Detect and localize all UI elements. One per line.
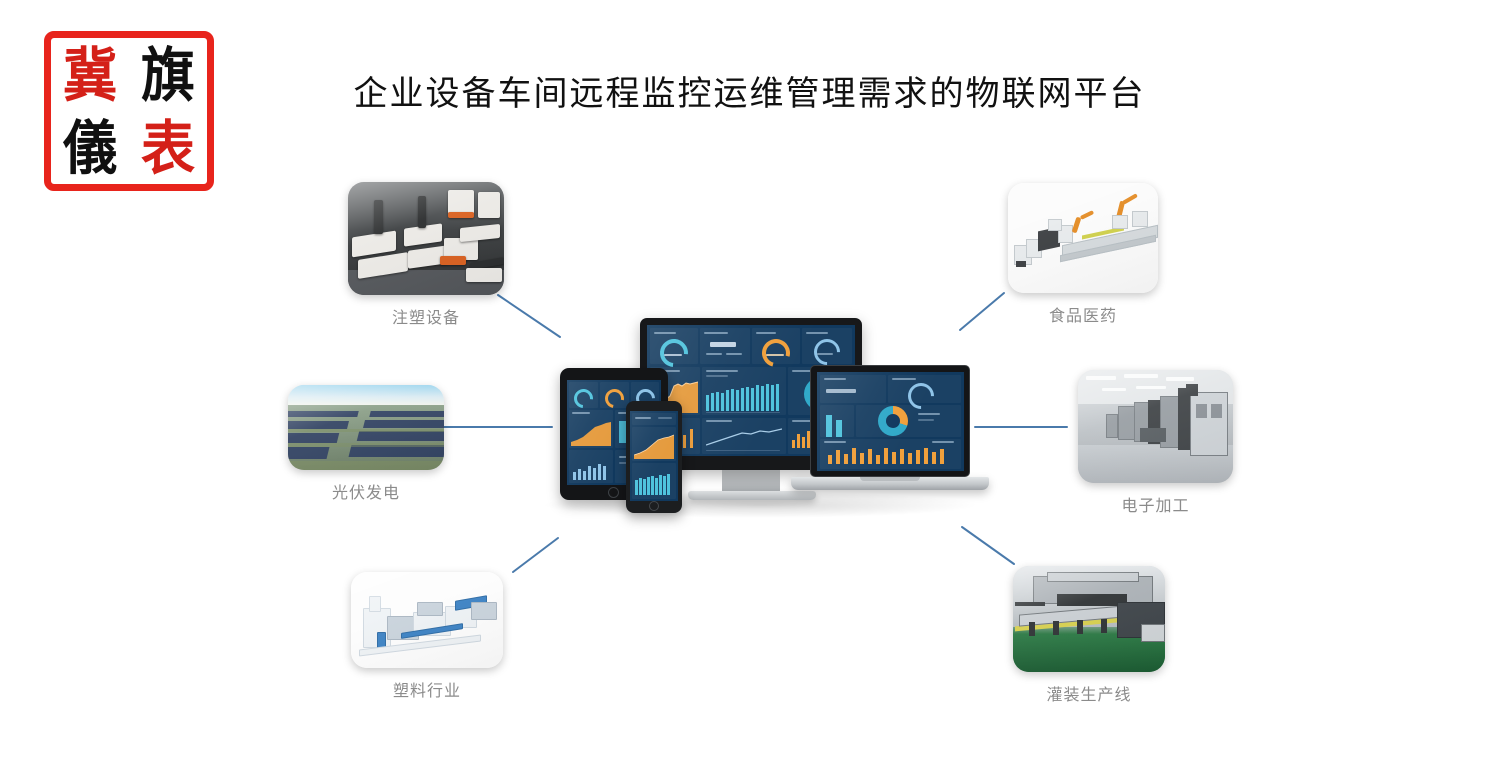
node-electronics-thumb bbox=[1078, 370, 1233, 483]
node-electronics-label: 电子加工 bbox=[1078, 492, 1233, 516]
phone-bar-chart bbox=[632, 463, 676, 499]
laptop-screen bbox=[817, 372, 964, 471]
node-injection[interactable]: 注塑设备 bbox=[348, 182, 504, 328]
node-injection-label: 注塑设备 bbox=[348, 304, 504, 328]
node-foodpharma-label: 食品医药 bbox=[1008, 302, 1158, 326]
phone-device bbox=[626, 401, 682, 513]
node-foodpharma[interactable]: 食品医药 bbox=[1008, 183, 1158, 326]
laptop-bar-chart bbox=[820, 439, 961, 469]
monitor-stand-base bbox=[688, 491, 816, 500]
laptop-gauge bbox=[888, 375, 961, 403]
phone-screen bbox=[630, 411, 678, 501]
photo-food-pharma-line bbox=[1008, 183, 1158, 293]
photo-electronics-cleanroom bbox=[1078, 370, 1233, 483]
tablet-gauge-1 bbox=[569, 382, 598, 408]
connector-injection bbox=[498, 295, 560, 337]
monitor-line-chart bbox=[702, 418, 786, 454]
monitor-gauge-3 bbox=[802, 328, 852, 364]
phone-header bbox=[632, 413, 676, 425]
laptop-device bbox=[810, 365, 970, 477]
node-plastics[interactable]: 塑料行业 bbox=[351, 572, 503, 701]
monitor-gauge-1 bbox=[650, 328, 698, 364]
monitor-bar-chart bbox=[702, 367, 786, 415]
photo-solar-farm bbox=[288, 385, 444, 470]
laptop-kpi-1 bbox=[820, 375, 886, 403]
laptop-trackpad-notch bbox=[860, 477, 920, 481]
node-injection-thumb bbox=[348, 182, 504, 295]
connector-filling bbox=[962, 527, 1014, 564]
connector-plastics bbox=[513, 538, 558, 572]
tablet-gauge-2 bbox=[600, 382, 629, 408]
monitor-stand-neck bbox=[722, 470, 780, 492]
node-solar[interactable]: 光伏发电 bbox=[288, 385, 444, 503]
node-electronics[interactable]: 电子加工 bbox=[1078, 370, 1233, 516]
photo-injection-molding bbox=[348, 182, 504, 295]
tablet-area-chart bbox=[569, 410, 613, 448]
device-cluster bbox=[552, 305, 972, 520]
logo-char-4: 表 bbox=[129, 108, 207, 187]
node-filling-label: 灌装生产线 bbox=[1013, 681, 1165, 705]
node-solar-thumb bbox=[288, 385, 444, 470]
tablet-bar-chart bbox=[569, 450, 613, 483]
slide-canvas: 冀 旗 儀 表 企业设备车间远程监控运维管理需求的物联网平台 bbox=[0, 0, 1499, 759]
node-plastics-label: 塑料行业 bbox=[351, 677, 503, 701]
node-foodpharma-thumb bbox=[1008, 183, 1158, 293]
monitor-gauge-2 bbox=[752, 328, 800, 364]
photo-plastics-line bbox=[351, 572, 503, 668]
node-solar-label: 光伏发电 bbox=[288, 479, 444, 503]
monitor-kpi-1 bbox=[700, 328, 750, 364]
photo-filling-line bbox=[1013, 566, 1165, 672]
laptop-minibars bbox=[820, 405, 854, 437]
node-plastics-thumb bbox=[351, 572, 503, 668]
node-filling[interactable]: 灌装生产线 bbox=[1013, 566, 1165, 705]
page-title: 企业设备车间远程监控运维管理需求的物联网平台 bbox=[0, 66, 1499, 115]
tablet-home-button[interactable] bbox=[608, 487, 619, 498]
logo-char-3: 儀 bbox=[51, 108, 129, 187]
phone-area-chart bbox=[632, 427, 676, 461]
phone-home-button[interactable] bbox=[649, 501, 659, 511]
laptop-donut-chart bbox=[856, 405, 961, 437]
node-filling-thumb bbox=[1013, 566, 1165, 672]
